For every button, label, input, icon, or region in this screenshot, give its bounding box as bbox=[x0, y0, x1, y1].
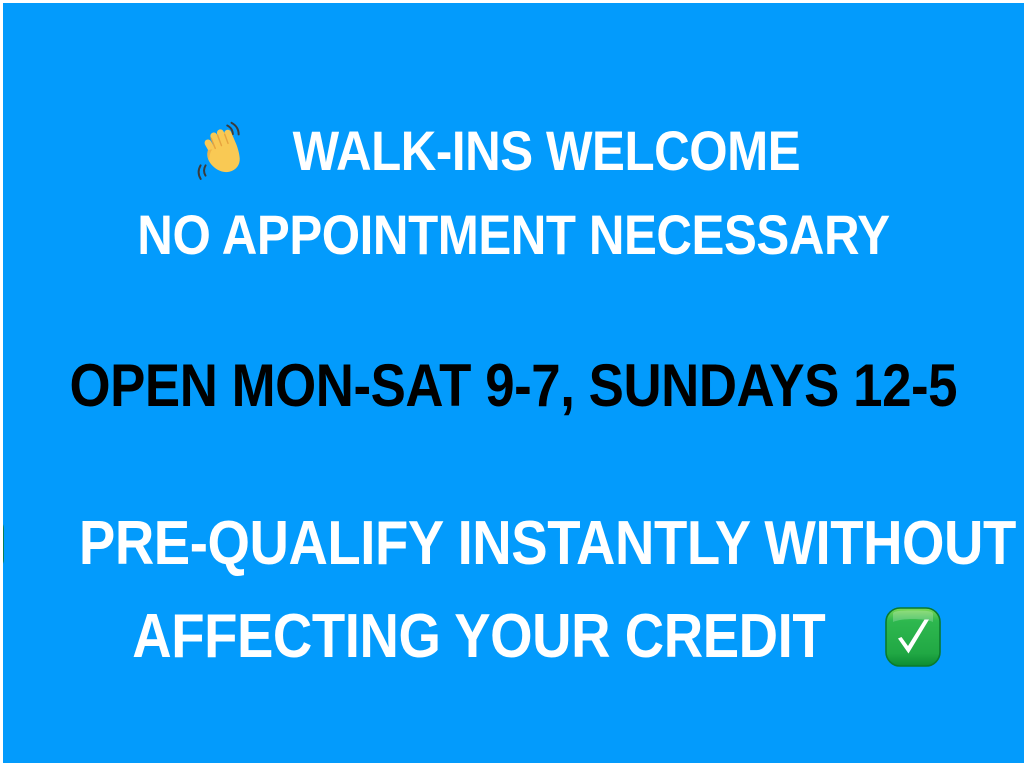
prequalify-headline: PRE-QUALIFY INSTANTLY WITHOUT bbox=[3, 508, 1024, 580]
headline-no-appointment: NO APPOINTMENT NECESSARY bbox=[3, 203, 1024, 267]
white-check-mark-icon bbox=[3, 513, 5, 575]
waving-hand-icon bbox=[192, 121, 252, 181]
affecting-credit-label: AFFECTING YOUR CREDIT bbox=[132, 606, 825, 668]
sign-board: WALK-INS WELCOME NO APPOINTMENT NECESSAR… bbox=[3, 3, 1024, 763]
store-hours-label: OPEN MON-SAT 9-7, SUNDAYS 12-5 bbox=[70, 356, 958, 416]
white-check-mark-icon bbox=[884, 606, 942, 668]
headline-no-appointment-label: NO APPOINTMENT NECESSARY bbox=[137, 207, 889, 263]
prequalify-headline-label: PRE-QUALIFY INSTANTLY WITHOUT bbox=[79, 513, 1016, 575]
headline-walk-ins: WALK-INS WELCOME bbox=[3, 119, 1024, 183]
affecting-credit-headline: AFFECTING YOUR CREDIT bbox=[3, 601, 1024, 673]
headline-walk-ins-label: WALK-INS WELCOME bbox=[293, 123, 801, 179]
store-hours: OPEN MON-SAT 9-7, SUNDAYS 12-5 bbox=[3, 351, 1024, 421]
sign-canvas: WALK-INS WELCOME NO APPOINTMENT NECESSAR… bbox=[0, 0, 1024, 768]
